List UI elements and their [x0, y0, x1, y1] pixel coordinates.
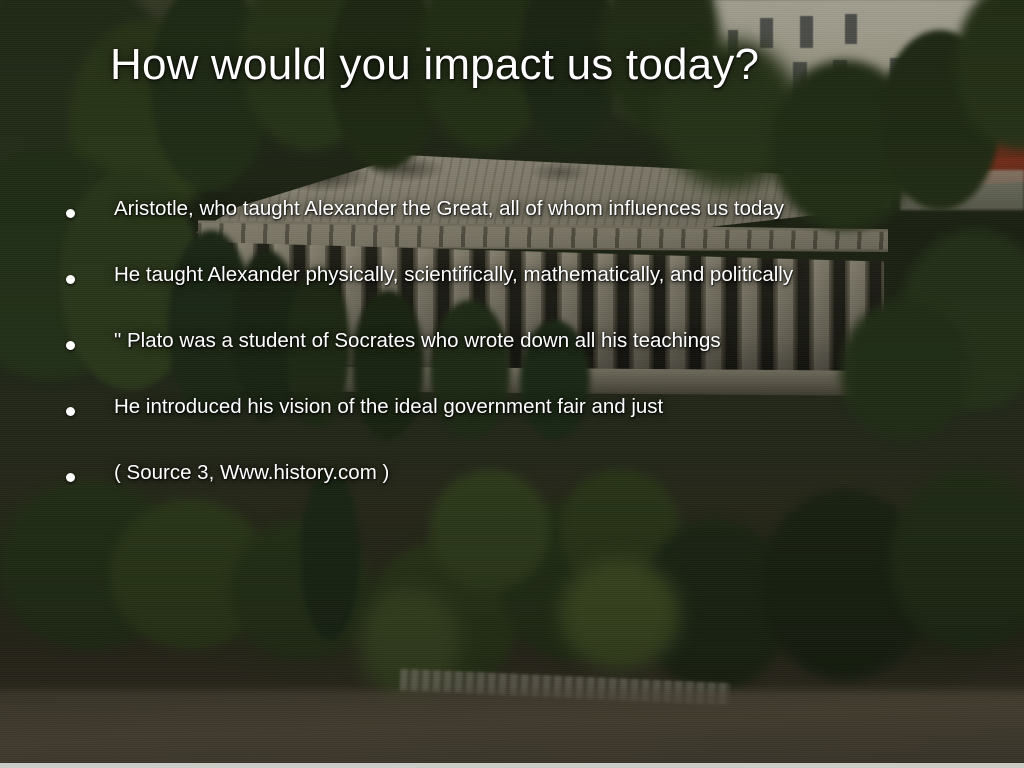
list-item: ( Source 3, Www.history.com ): [66, 460, 1006, 526]
bullet-list: Aristotle, who taught Alexander the Grea…: [66, 196, 1006, 526]
slide-title: How would you impact us today?: [110, 40, 759, 90]
list-item: " Plato was a student of Socrates who wr…: [66, 328, 1006, 394]
bullet-dot-icon: [66, 275, 75, 284]
list-item-label: He introduced his vision of the ideal go…: [114, 394, 1006, 419]
list-item-label: " Plato was a student of Socrates who wr…: [114, 328, 1006, 353]
list-item: He introduced his vision of the ideal go…: [66, 394, 1006, 460]
list-item-label: Aristotle, who taught Alexander the Grea…: [114, 196, 1006, 221]
bullet-dot-icon: [66, 209, 75, 218]
slide-content: How would you impact us today? Aristotle…: [0, 0, 1024, 768]
presentation-slide: How would you impact us today? Aristotle…: [0, 0, 1024, 768]
bullet-dot-icon: [66, 341, 75, 350]
list-item: He taught Alexander physically, scientif…: [66, 262, 1006, 328]
bullet-dot-icon: [66, 473, 75, 482]
bullet-dot-icon: [66, 407, 75, 416]
bottom-strip: [0, 763, 1024, 768]
list-item-label: ( Source 3, Www.history.com ): [114, 460, 1006, 485]
list-item-label: He taught Alexander physically, scientif…: [114, 262, 1006, 287]
list-item: Aristotle, who taught Alexander the Grea…: [66, 196, 1006, 262]
